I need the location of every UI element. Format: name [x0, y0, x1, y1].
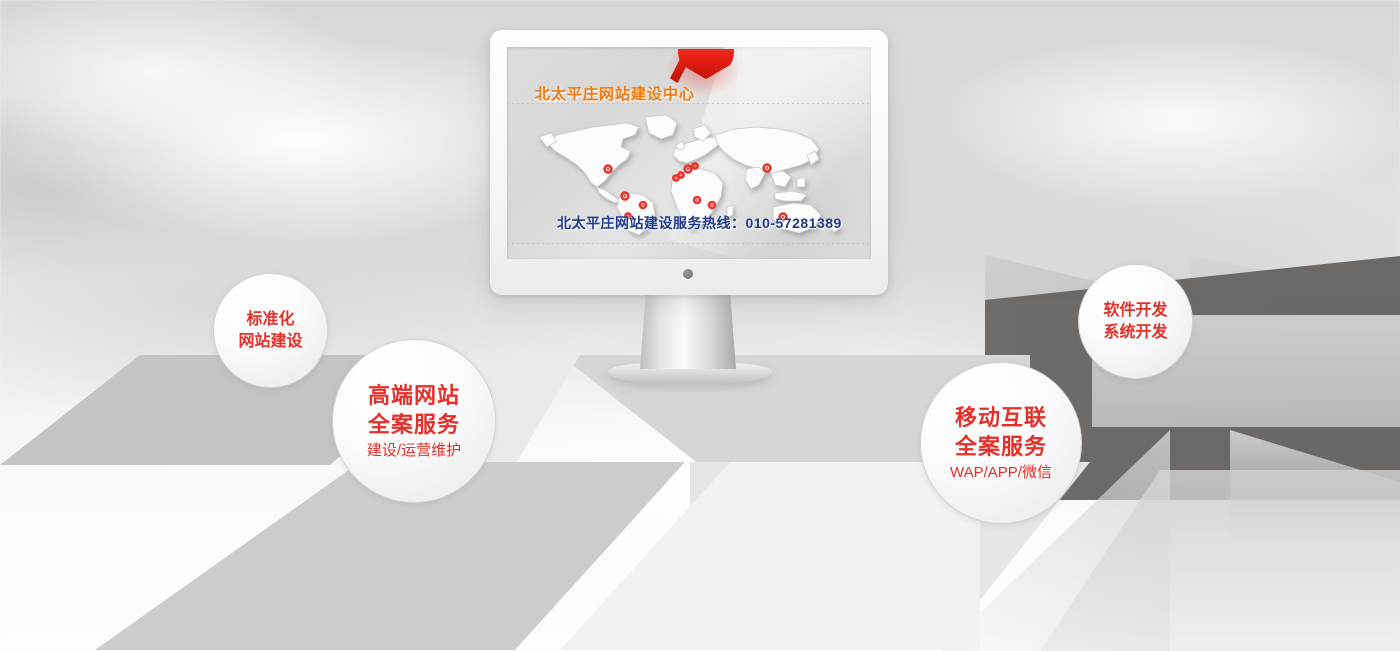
bubble-standard-line2: 网站建设: [238, 331, 302, 352]
monitor-bezel: 北太平庄网站建设中心 北太平庄网站建设服务热线：010-57281389: [490, 30, 888, 295]
bubble-mobile-line1: 移动互联: [955, 403, 1047, 432]
bubble-highend-line1: 高端网站: [368, 381, 460, 410]
bubble-mobile-subline: WAP/APP/微信: [950, 463, 1052, 483]
monitor-stand-neck: [640, 291, 736, 369]
bubble-mobile[interactable]: 移动互联 全案服务 WAP/APP/微信: [920, 362, 1082, 524]
bubble-software-line1: 软件开发: [1103, 300, 1167, 321]
screen-hotline: 北太平庄网站建设服务热线：010-57281389: [557, 213, 842, 233]
bubble-standard-line1: 标准化: [246, 309, 294, 330]
monitor: 北太平庄网站建设中心 北太平庄网站建设服务热线：010-57281389: [490, 30, 890, 390]
screen-dotted-rule-bottom: [507, 243, 871, 244]
bubble-highend-subline: 建设/运营维护: [367, 441, 461, 461]
bubble-software[interactable]: 软件开发 系统开发: [1078, 264, 1193, 379]
bubble-software-line2: 系统开发: [1103, 322, 1167, 343]
power-indicator-icon: [683, 269, 693, 279]
monitor-chin: [490, 259, 888, 295]
bubble-highend[interactable]: 高端网站 全案服务 建设/运营维护: [332, 339, 496, 503]
screen-title: 北太平庄网站建设中心: [535, 83, 695, 104]
monitor-screen: 北太平庄网站建设中心 北太平庄网站建设服务热线：010-57281389: [507, 47, 871, 259]
bubble-standard[interactable]: 标准化 网站建设: [213, 273, 328, 388]
bubble-highend-line2: 全案服务: [368, 410, 460, 439]
banner-stage: 北太平庄网站建设中心 北太平庄网站建设服务热线：010-57281389 标准化…: [0, 0, 1400, 651]
bubble-mobile-line2: 全案服务: [955, 432, 1047, 461]
